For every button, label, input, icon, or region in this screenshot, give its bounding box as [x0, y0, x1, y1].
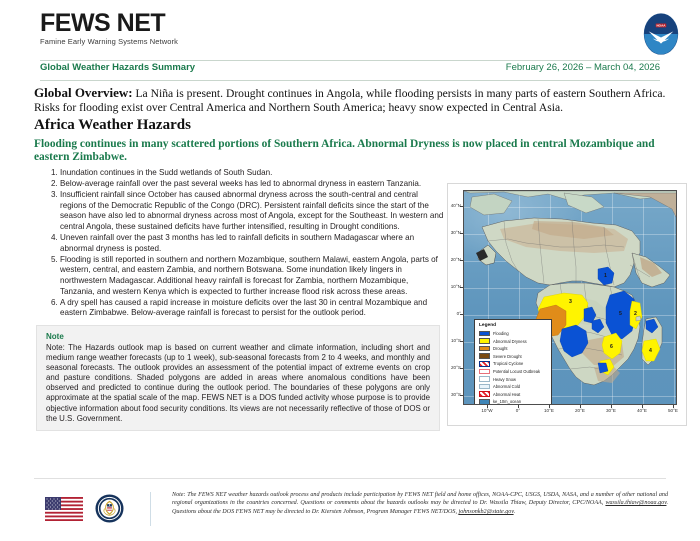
page-title: Global Weather Hazards Summary	[40, 62, 195, 73]
section-green-heading: Flooding continues in many scattered por…	[34, 138, 674, 164]
legend-label: Potential Locust Outbreak	[493, 369, 540, 374]
date-range: February 26, 2026 – March 04, 2026	[506, 62, 660, 73]
legend-swatch	[479, 369, 490, 375]
legend-swatch	[479, 399, 490, 405]
legend-title: Legend	[479, 323, 548, 328]
legend-item-8: Abnormal Heat	[479, 391, 548, 398]
legend-item-2: Drought	[479, 345, 548, 352]
footer-email-2[interactable]: johnsonkb2@state.gov	[459, 509, 514, 515]
x-tick-label: 30°E	[600, 408, 622, 413]
legend-item-1: Abnormal Dryness	[479, 338, 548, 345]
hazard-label-4: 4	[649, 348, 652, 354]
x-tick-label: 10°E	[538, 408, 560, 413]
hazard-item-2: Below-average rainfall over the past sev…	[60, 179, 444, 190]
legend-swatch	[479, 353, 490, 359]
y-tick-label: 20°S	[448, 365, 461, 370]
legend-label: Tropical Cyclone	[493, 361, 523, 366]
header-divider-top	[40, 60, 660, 61]
legend-item-6: Heavy Snow	[479, 376, 548, 383]
hazard-label-2: 2	[634, 311, 637, 317]
y-tick-label: 30°N	[448, 230, 461, 235]
hazard-label-3a: 3	[569, 299, 572, 305]
x-tick-label: 40°E	[631, 408, 653, 413]
fews-net-logo: FEWS NET Famine Early Warning Systems Ne…	[40, 10, 178, 46]
svg-text:NOAA: NOAA	[656, 24, 666, 28]
x-tick-label: 10°W	[476, 408, 498, 413]
note-heading: Note	[46, 332, 430, 341]
legend-item-4: Tropical Cyclone	[479, 360, 548, 367]
legend-label: Abnormal Heat	[493, 392, 520, 397]
legend-swatch	[479, 346, 490, 352]
y-tick-label: 0°	[448, 311, 461, 316]
footer-email-1[interactable]: wassila.thiaw@noaa.gov	[605, 500, 666, 506]
hazard-item-1: Inundation continues in the Sudd wetland…	[60, 168, 444, 179]
footer-text-1: Note: The FEWS NET weather hazards outlo…	[172, 492, 668, 506]
legend-swatch	[479, 384, 490, 390]
global-overview: Global Overview: La Niña is present. Dro…	[34, 86, 674, 115]
map-canvas[interactable]: 1 2 3 3 4 5 6 Legend FloodingAbnormal Dr…	[463, 190, 677, 405]
legend-swatch	[479, 376, 490, 382]
footer-note: Note: The FEWS NET weather hazards outlo…	[172, 491, 668, 516]
footer-divider-vertical	[150, 492, 151, 526]
hazard-item-3: Insufficient rainfall since October has …	[60, 190, 444, 232]
legend-swatch	[479, 361, 490, 367]
legend-label: Flooding	[493, 331, 509, 336]
legend-item-0: Flooding	[479, 330, 548, 337]
legend-label: Abnormal Cold	[493, 384, 520, 389]
hazard-item-5: Flooding is still reported in southern a…	[60, 255, 444, 297]
legend-label: ke_10m_ocean	[493, 399, 521, 404]
logo-title: FEWS NET	[40, 10, 178, 36]
y-tick-label: 30°S	[448, 392, 461, 397]
footer-divider	[34, 478, 666, 479]
x-tick-label: 0°	[507, 408, 529, 413]
legend-swatch	[479, 331, 490, 337]
header-divider-bottom	[40, 80, 660, 81]
footer-text-3: .	[514, 509, 516, 515]
hazard-item-6: A dry spell has caused a rapid increase …	[60, 298, 444, 319]
legend-swatch	[479, 391, 490, 397]
hazard-label-1: 1	[604, 273, 607, 279]
global-overview-label: Global Overview:	[34, 85, 133, 100]
page-header: FEWS NET Famine Early Warning Systems Ne…	[0, 0, 700, 58]
y-tick-label: 20°N	[448, 257, 461, 262]
x-tick-label: 20°E	[569, 408, 591, 413]
us-state-department-seal-icon	[95, 494, 124, 523]
legend-swatch	[479, 338, 490, 344]
map-legend: Legend FloodingAbnormal DrynessDroughtSe…	[474, 319, 552, 405]
summary-titlebar: Global Weather Hazards Summary February …	[40, 62, 660, 80]
legend-item-9: ke_10m_ocean	[479, 398, 548, 405]
legend-label: Severe Drought	[493, 354, 522, 359]
legend-item-7: Abnormal Cold	[479, 383, 548, 390]
hazard-list: Inundation continues in the Sudd wetland…	[34, 168, 444, 319]
logo-subtitle: Famine Early Warning Systems Network	[40, 37, 178, 46]
y-tick-label: 40°N	[448, 203, 461, 208]
section-heading: Africa Weather Hazards	[34, 117, 191, 134]
note-body: Note: The Hazards outlook map is based o…	[46, 343, 430, 424]
hazard-label-5: 5	[619, 311, 622, 317]
africa-hazards-map[interactable]: 1 2 3 3 4 5 6 Legend FloodingAbnormal Dr…	[447, 183, 687, 426]
legend-item-5: Potential Locust Outbreak	[479, 368, 548, 375]
legend-label: Abnormal Dryness	[493, 339, 527, 344]
note-box: Note Note: The Hazards outlook map is ba…	[36, 325, 440, 431]
y-tick-label: 10°N	[448, 284, 461, 289]
us-flag-icon	[45, 497, 83, 521]
legend-label: Drought	[493, 346, 508, 351]
hazard-item-4: Uneven rainfall over the past 3 months h…	[60, 233, 444, 254]
legend-item-3: Severe Drought	[479, 353, 548, 360]
y-tick-label: 10°S	[448, 338, 461, 343]
legend-label: Heavy Snow	[493, 377, 516, 382]
noaa-logo-icon: NOAA	[639, 12, 683, 56]
x-tick-label: 50°E	[662, 408, 684, 413]
hazard-label-6: 6	[610, 344, 613, 350]
